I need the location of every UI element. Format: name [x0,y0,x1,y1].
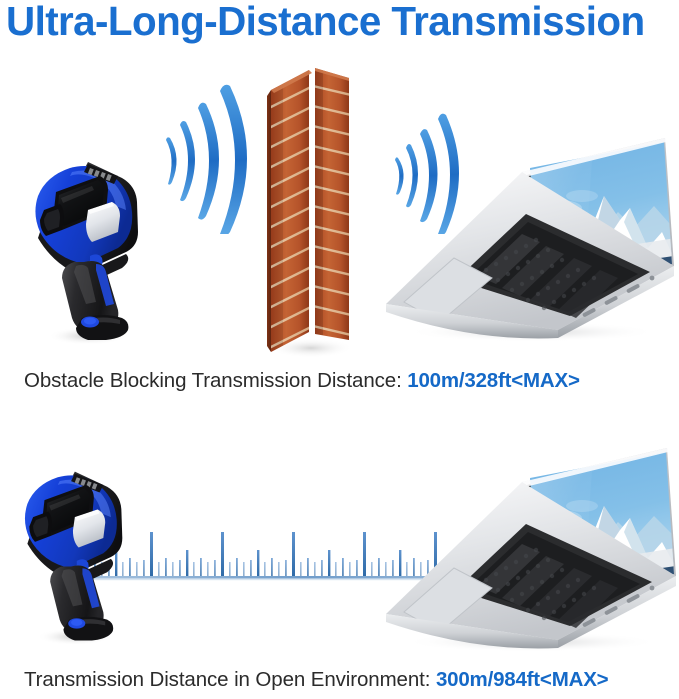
laptop-receiver-bottom [380,444,676,652]
barcode-scanner-top [26,140,144,345]
wall-left-side [267,90,271,352]
caption-open-environment-distance: Transmission Distance in Open Environmen… [24,668,608,692]
caption-obstacle-distance: Obstacle Blocking Transmission Distance:… [24,369,580,393]
infographic-page: Ultra-Long-Distance Transmission [0,0,679,699]
brick-wall-slab-left [267,70,312,352]
caption-label: Obstacle Blocking Transmission Distance: [24,369,407,392]
scanner-base-button-inner [84,318,96,325]
wave-arc-3 [198,103,219,220]
brick-wall-obstacle [263,56,355,358]
wave-arc-4 [220,85,247,234]
wave-arc-2 [180,121,195,201]
wave-arc-1 [166,137,177,184]
scanner-base-button-inner [71,619,82,626]
brick-wall-slab-right [313,68,351,340]
caption-value: 300m/984ft<MAX> [436,668,608,691]
page-title: Ultra-Long-Distance Transmission [6,0,664,46]
caption-label: Transmission Distance in Open Environmen… [24,668,436,691]
wave-arcs [166,85,247,234]
caption-value: 100m/328ft<MAX> [407,369,579,392]
signal-waves-left [152,82,264,234]
barcode-scanner-bottom [16,450,128,646]
laptop-receiver-top [382,136,674,341]
